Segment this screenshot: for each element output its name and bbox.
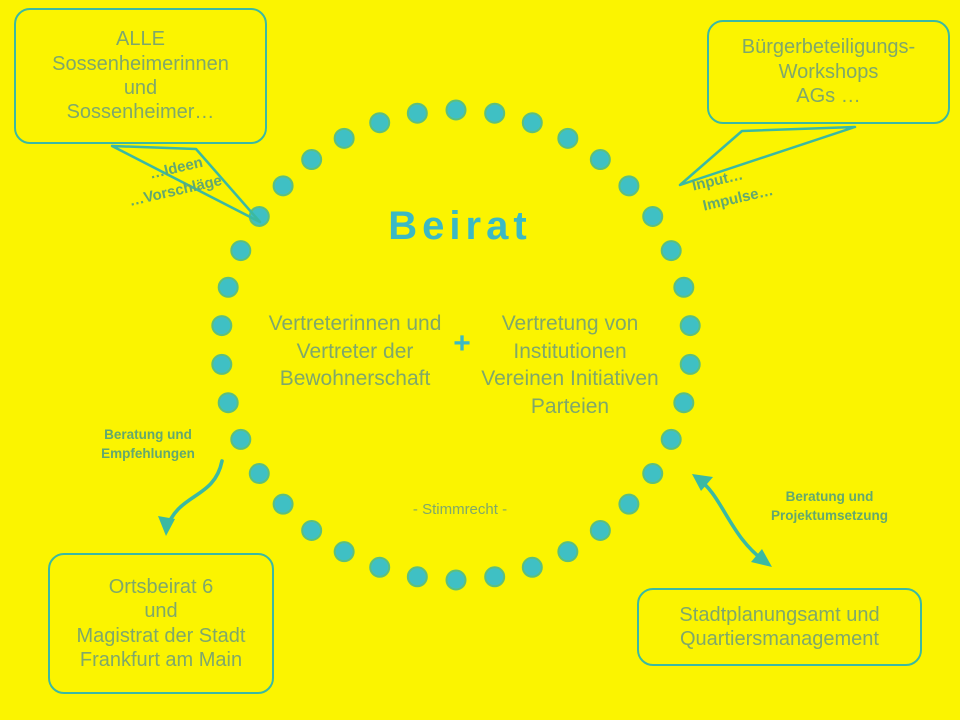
box-line: Quartiersmanagement: [680, 627, 879, 651]
ring-column-residents: Vertreterinnen und Vertreter der Bewohne…: [265, 310, 445, 393]
column-line: Parteien: [531, 395, 609, 418]
ring-dot: [643, 464, 662, 483]
ring-dot: [485, 567, 504, 586]
ring-dot: [408, 567, 427, 586]
arrow-label-beratung-empfehlungen: Beratung und Empfehlungen: [68, 426, 228, 463]
ring-dot: [219, 393, 238, 412]
ring-dot: [250, 464, 269, 483]
arrow-label-line: Projektumsetzung: [771, 508, 888, 523]
tail-label-ideen-vorschlaege: …Ideen …Vorschläge: [122, 149, 224, 213]
speech-bubble-citizens: ALLE Sossenheimerinnen und Sossenheimer…: [14, 8, 267, 144]
bubble-line: ALLE: [116, 27, 165, 51]
arrow-label-line: Beratung und: [786, 489, 874, 504]
ring-dot: [212, 316, 231, 335]
ring-dot: [523, 113, 542, 132]
diagram-title-beirat: Beirat: [300, 200, 620, 253]
ring-dot: [619, 176, 638, 195]
bubble-line: Bürgerbeteiligungs-: [742, 35, 915, 59]
ring-dot: [681, 316, 700, 335]
ring-dot: [523, 558, 542, 577]
footnote-stimmrecht: - Stimmrecht -: [360, 500, 560, 520]
ring-dot: [219, 278, 238, 297]
plus-icon: +: [440, 329, 484, 359]
ring-dot: [619, 495, 638, 514]
bubble-line: Sossenheimerinnen: [52, 52, 229, 76]
ring-dot: [485, 104, 504, 123]
arrow-label-line: Empfehlungen: [101, 446, 195, 461]
ring-dot: [302, 521, 321, 540]
column-line: Vertretung: [502, 312, 599, 335]
ring-dot: [335, 129, 354, 148]
arrow-label-beratung-projektumsetzung: Beratung und Projektumsetzung: [742, 488, 917, 525]
ring-dot: [558, 129, 577, 148]
bubble-line: AGs …: [796, 84, 860, 108]
box-line: und: [144, 599, 177, 623]
speech-bubble-workshops: Bürgerbeteiligungs- Workshops AGs …: [707, 20, 950, 124]
ring-dot: [674, 278, 693, 297]
bubble-line: Workshops: [779, 60, 879, 84]
ring-dot: [370, 113, 389, 132]
bubble-line: und: [124, 76, 157, 100]
ring-dot: [591, 521, 610, 540]
ring-dot: [212, 355, 231, 374]
ring-dot: [681, 355, 700, 374]
column-line: Institutionen: [513, 340, 626, 363]
ring-dot: [274, 176, 293, 195]
box-stadtplanungsamt-quartiersmanagement: Stadtplanungsamt und Quartiersmanagement: [637, 588, 922, 666]
box-line: Stadtplanungsamt und: [679, 603, 879, 627]
ring-dot: [370, 558, 389, 577]
arrow-label-line: Beratung und: [104, 427, 192, 442]
column-line: Vereinen: [481, 367, 564, 390]
ring-dot: [231, 430, 250, 449]
diagram-canvas: ALLE Sossenheimerinnen und Sossenheimer……: [0, 0, 960, 720]
ring-dot: [274, 495, 293, 514]
ring-column-institutions: Vertretung von Institutionen Vereinen In…: [480, 310, 660, 421]
ring-dot: [408, 104, 427, 123]
ring-dot: [447, 571, 466, 590]
ring-dot: [674, 393, 693, 412]
box-line: Frankfurt am Main: [80, 648, 242, 672]
column-line: Initiativen: [570, 367, 659, 390]
ring-dot: [558, 542, 577, 561]
ring-dot: [231, 241, 250, 260]
ring-dot: [591, 150, 610, 169]
column-line: der: [383, 340, 413, 363]
ring-dot: [447, 101, 466, 120]
ring-dot: [662, 241, 681, 260]
ring-dot: [335, 542, 354, 561]
column-line: Vertreterinnen: [269, 312, 401, 335]
ring-dot: [662, 430, 681, 449]
box-ortsbeirat-magistrat: Ortsbeirat 6 und Magistrat der Stadt Fra…: [48, 553, 274, 694]
ring-dot: [302, 150, 321, 169]
box-line: Magistrat der Stadt: [77, 624, 246, 648]
column-line: von: [604, 312, 638, 335]
arrow-beratung-empfehlungen: [158, 461, 222, 536]
column-line: Bewohnerschaft: [280, 367, 431, 390]
tail-label-input-impulse: Input… Impulse…: [690, 159, 775, 219]
bubble-line: Sossenheimer…: [67, 100, 215, 124]
ring-dot: [643, 207, 662, 226]
box-line: Ortsbeirat 6: [109, 575, 213, 599]
ring-dot: [250, 207, 269, 226]
